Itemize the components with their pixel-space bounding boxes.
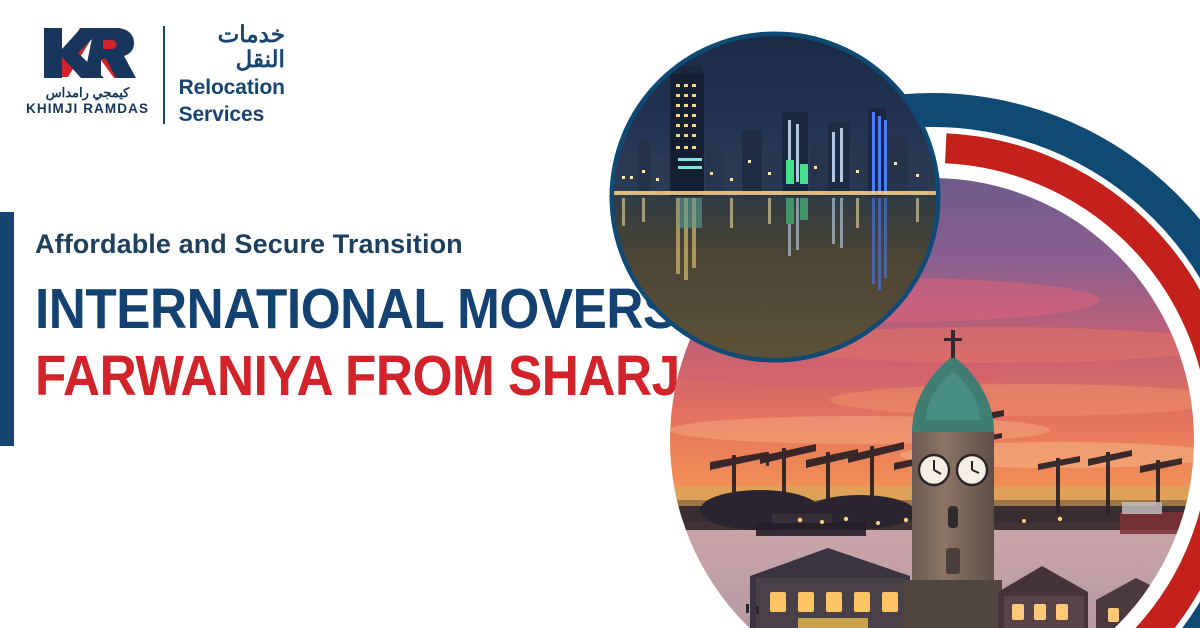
division-english-line2: Services (179, 104, 285, 126)
headline-line-2: FARWANIYA FROM SHARJAH (35, 347, 584, 405)
company-name-arabic: كيمجي رامداس (46, 86, 130, 100)
night-skyline-photo (610, 32, 941, 364)
headline-line-1: INTERNATIONAL MOVERS TO (35, 280, 584, 338)
division-english-line1: Relocation (179, 77, 285, 99)
division-arabic-line2: النقل (179, 47, 285, 72)
logo-division-group: خدمات النقل Relocation Services (165, 22, 285, 126)
kr-monogram-icon (36, 22, 140, 84)
brand-logo[interactable]: كيمجي رامداس KHIMJI RAMDAS خدمات النقل R… (26, 22, 285, 126)
left-accent-bar (0, 212, 14, 446)
company-name-english: KHIMJI RAMDAS (26, 101, 149, 117)
eyebrow-text: Affordable and Secure Transition (35, 228, 645, 260)
logo-primary-group: كيمجي رامداس KHIMJI RAMDAS (26, 22, 163, 117)
headline-block: Affordable and Secure Transition INTERNA… (35, 228, 645, 405)
banner-artwork (560, 0, 1200, 628)
promotional-banner: كيمجي رامداس KHIMJI RAMDAS خدمات النقل R… (0, 0, 1200, 628)
division-arabic-line1: خدمات (179, 22, 285, 47)
